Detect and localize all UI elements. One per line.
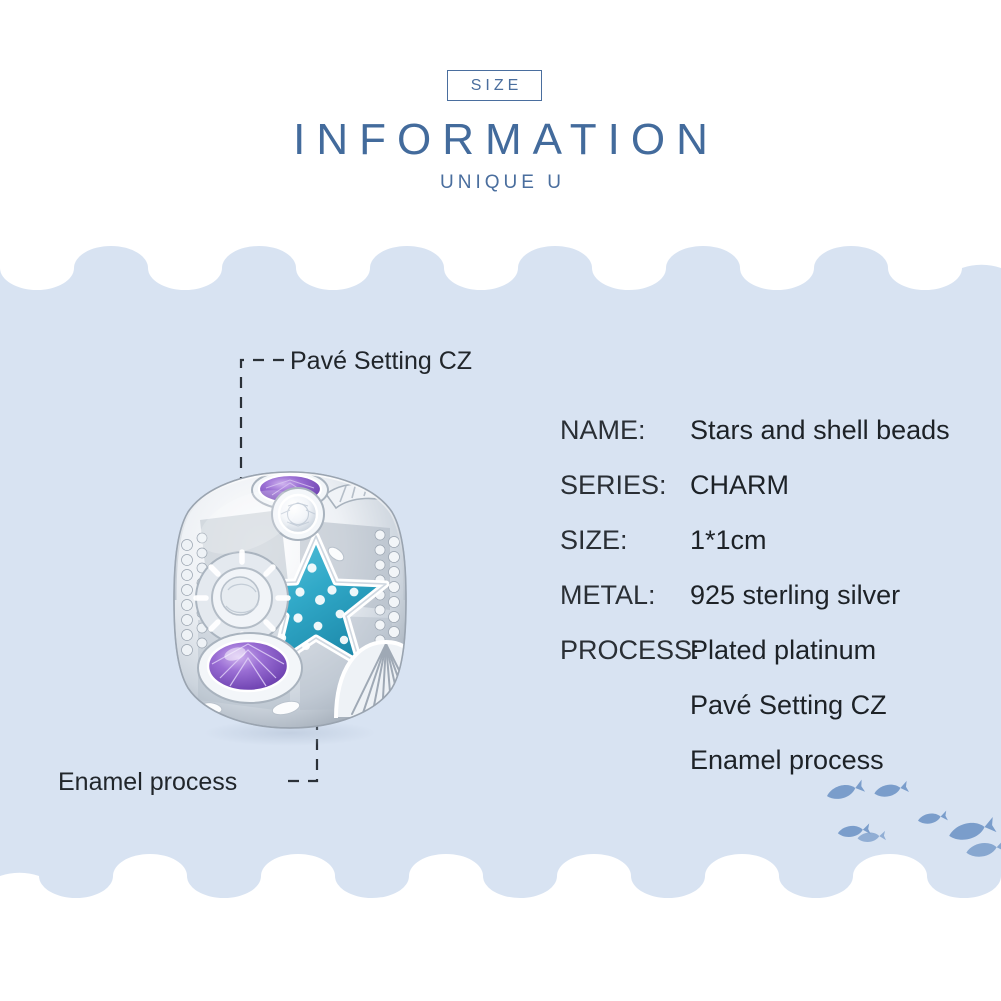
spec-value: Enamel process xyxy=(690,740,884,780)
page-subtitle: UNIQUE U xyxy=(0,172,1001,194)
bead-body xyxy=(174,471,432,728)
spec-value: Plated platinum xyxy=(690,630,876,670)
spec-row: METAL: 925 sterling silver xyxy=(560,575,990,630)
specification-list: NAME: Stars and shell beads SERIES: CHAR… xyxy=(560,410,990,795)
fish-icon xyxy=(917,811,948,826)
size-badge: SIZE xyxy=(447,70,542,101)
fish-icon xyxy=(873,781,909,799)
spec-row: PROCESS: Pavé Setting CZ xyxy=(560,685,990,740)
spec-value: Pavé Setting CZ xyxy=(690,685,887,725)
spec-row: SERIES: CHARM xyxy=(560,465,990,520)
cz-purple-bottom xyxy=(198,633,302,703)
spec-label: SERIES: xyxy=(560,465,690,505)
product-info-graphic: SIZE INFORMATION UNIQUE U Pavé Setting C… xyxy=(0,0,1001,1001)
spec-row: SIZE: 1*1cm xyxy=(560,520,990,575)
size-badge-label: SIZE xyxy=(467,77,523,95)
fish-icon xyxy=(857,831,886,843)
callout-label-pave: Pavé Setting CZ xyxy=(290,347,472,376)
fish-icon xyxy=(965,839,1001,859)
spec-row: PROCESS: Plated platinum xyxy=(560,630,990,685)
spec-label: PROCESS: xyxy=(560,630,690,670)
spec-label: METAL: xyxy=(560,575,690,615)
spec-row: NAME: Stars and shell beads xyxy=(560,410,990,465)
spec-label: SIZE: xyxy=(560,520,690,560)
fish-school-decoration xyxy=(805,775,1001,880)
swirl-shell-motif xyxy=(196,552,288,644)
fish-icon xyxy=(947,817,996,843)
page-title: INFORMATION xyxy=(0,113,1001,167)
spec-value: 925 sterling silver xyxy=(690,575,900,615)
fish-icon xyxy=(825,780,865,803)
product-image-charm-bead xyxy=(140,450,440,750)
spec-value: 1*1cm xyxy=(690,520,767,560)
spec-value: CHARM xyxy=(690,465,789,505)
spec-label: NAME: xyxy=(560,410,690,450)
header-section: SIZE INFORMATION UNIQUE U xyxy=(0,0,1001,240)
callout-label-enamel: Enamel process xyxy=(58,768,237,797)
spec-value: Stars and shell beads xyxy=(690,410,950,450)
